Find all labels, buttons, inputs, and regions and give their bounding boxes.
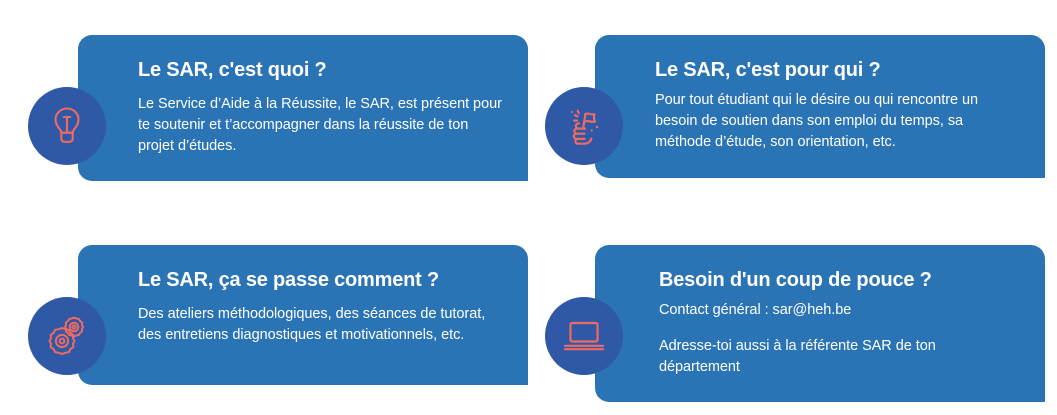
card-body-paragraph: Le Service d’Aide à la Réussite, le SAR,… xyxy=(138,94,502,157)
lightbulb-icon xyxy=(47,104,87,148)
card-title: Le SAR, c'est quoi ? xyxy=(138,59,502,82)
raised-hand-celebration-icon-badge xyxy=(545,87,623,165)
card-contact-line: Contact général : sar@heh.be xyxy=(659,300,1019,321)
card-panel: Le SAR, c'est quoi ? Le Service d’Aide à… xyxy=(78,35,528,181)
card-title: Besoin d'un coup de pouce ? xyxy=(659,269,1019,292)
gears-icon-badge xyxy=(28,297,106,375)
lightbulb-icon-badge xyxy=(28,87,106,165)
card-body-paragraph: Pour tout étudiant qui le désire ou qui … xyxy=(655,90,1019,153)
card-title: Le SAR, ça se passe comment ? xyxy=(138,269,502,292)
laptop-icon xyxy=(562,318,606,354)
card-panel: Besoin d'un coup de pouce ? Contact géné… xyxy=(595,245,1045,402)
card-body-paragraph: Des ateliers méthodologiques, des séance… xyxy=(138,304,502,346)
card-panel: Le SAR, ça se passe comment ? Des atelie… xyxy=(78,245,528,385)
card-title: Le SAR, c'est pour qui ? xyxy=(655,59,1019,82)
gears-icon xyxy=(43,312,91,360)
info-cards-board: Le SAR, c'est quoi ? Le Service d’Aide à… xyxy=(0,0,1057,415)
card-referent-line: Adresse-toi aussi à la référente SAR de … xyxy=(659,336,1019,378)
raised-hand-celebration-icon xyxy=(561,103,607,149)
laptop-icon-badge xyxy=(545,297,623,375)
card-panel: Le SAR, c'est pour qui ? Pour tout étudi… xyxy=(595,35,1045,178)
